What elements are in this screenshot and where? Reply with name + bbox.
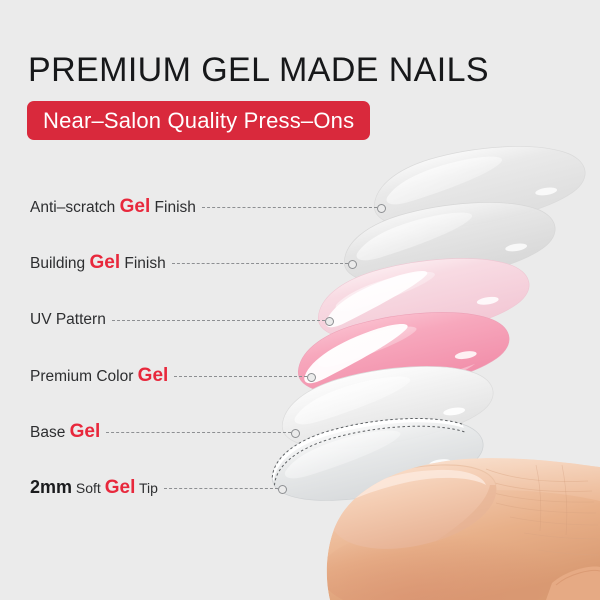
layer-row-uv-pattern: UV Pattern (0, 309, 106, 331)
leader-line-anti-scratch-gel-finish (202, 207, 377, 209)
leader-line-soft-gel-tip (164, 488, 278, 490)
layer-label-soft-gel-tip: 2mm Soft Gel Tip (30, 477, 158, 499)
leader-endpoint-uv-pattern (325, 317, 334, 326)
layer-row-base-gel: Base Gel (0, 421, 100, 443)
leader-endpoint-soft-gel-tip (278, 485, 287, 494)
infographic-canvas: PREMIUM GEL MADE NAILS Near–Salon Qualit… (0, 0, 600, 600)
fingertip-illustration (300, 405, 600, 600)
layer-row-anti-scratch-gel-finish: Anti–scratch Gel Finish (0, 196, 196, 218)
layer-row-premium-color-gel: Premium Color Gel (0, 365, 168, 387)
leader-endpoint-base-gel (291, 429, 300, 438)
layer-label-building-gel-finish: Building Gel Finish (30, 252, 166, 274)
leader-line-building-gel-finish (172, 263, 348, 265)
layer-label-anti-scratch-gel-finish: Anti–scratch Gel Finish (30, 196, 196, 218)
layer-row-soft-gel-tip: 2mm Soft Gel Tip (0, 477, 158, 499)
leader-line-premium-color-gel (174, 376, 307, 378)
leader-endpoint-building-gel-finish (348, 260, 357, 269)
layer-label-base-gel: Base Gel (30, 421, 100, 443)
layer-label-premium-color-gel: Premium Color Gel (30, 365, 168, 387)
leader-line-uv-pattern (112, 320, 325, 322)
layer-row-building-gel-finish: Building Gel Finish (0, 252, 166, 274)
layer-label-uv-pattern: UV Pattern (30, 311, 106, 329)
leader-endpoint-premium-color-gel (307, 373, 316, 382)
leader-endpoint-anti-scratch-gel-finish (377, 204, 386, 213)
leader-line-base-gel (106, 432, 291, 434)
